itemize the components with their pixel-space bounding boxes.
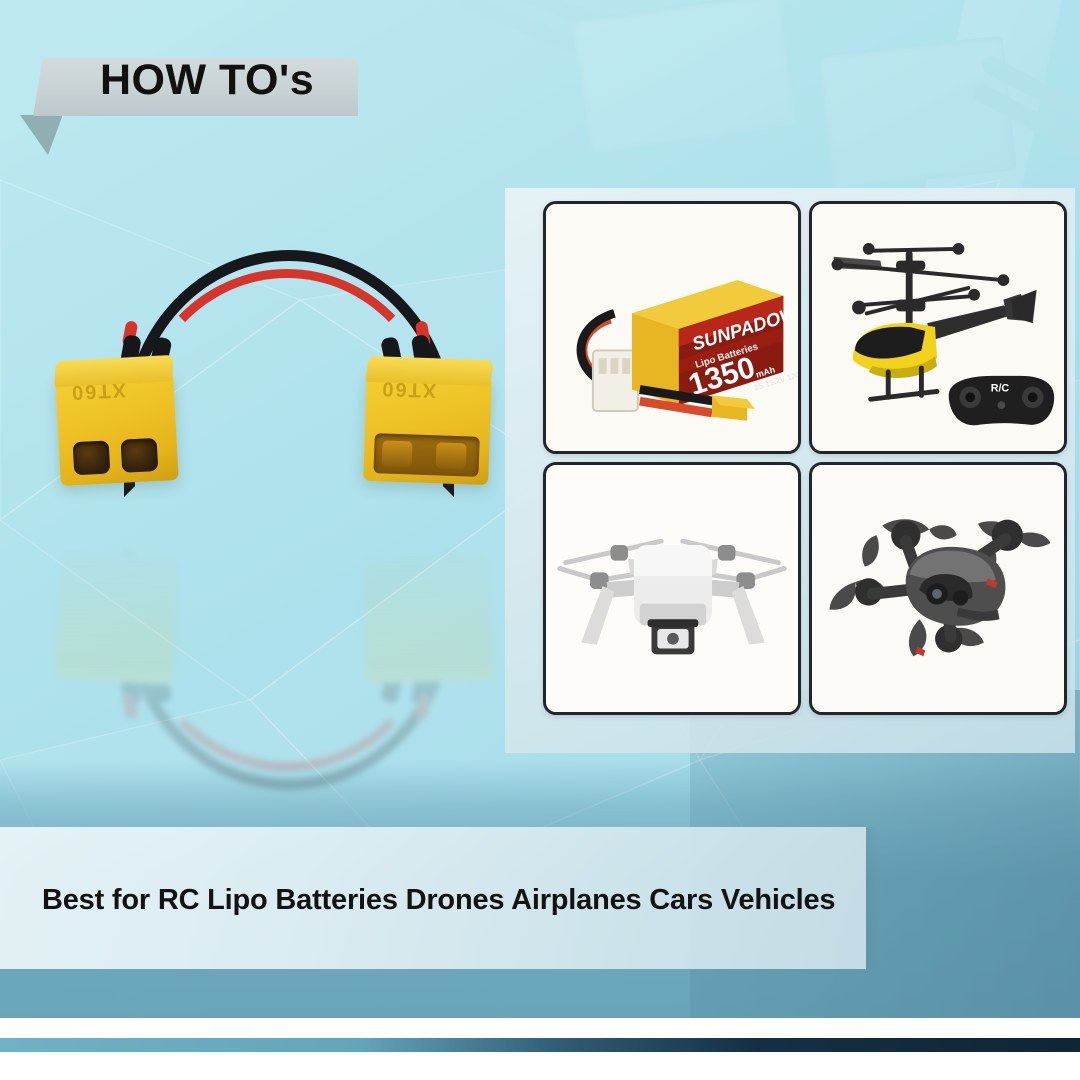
xt60-female-connector: XT60	[55, 372, 178, 486]
xt60-label-left: XT60	[69, 378, 126, 404]
caption-headline: Best for RC Lipo Batteries Drones Airpla…	[42, 884, 835, 917]
product-reflection	[20, 525, 510, 815]
gallery-cell-lipo-battery[interactable]: SUNPADOW Lipo Batteries 1350 mAh 2S 15.2…	[543, 201, 801, 454]
ribbon-fold	[20, 115, 62, 155]
socket-hole-a	[73, 440, 111, 475]
male-cavity	[373, 433, 479, 477]
remote-label: R/C	[991, 382, 1010, 394]
banner-title: HOW TO's	[100, 59, 314, 102]
caption-band-edge-shadow	[866, 827, 880, 969]
hero-product-xt60-cable: XT60 XT60	[20, 225, 510, 545]
footer-accent-stripe	[0, 1038, 1080, 1052]
socket-hole-b	[121, 438, 159, 473]
gallery-cell-rc-helicopter[interactable]: R/C	[809, 201, 1067, 454]
gallery-cell-camera-drone[interactable]	[543, 462, 801, 715]
footer-bottom-white	[0, 1052, 1080, 1080]
poster-canvas: XT60 XT60 HOW TO's	[0, 0, 1080, 1080]
product-gallery-grid: SUNPADOW Lipo Batteries 1350 mAh 2S 15.2…	[543, 201, 1067, 715]
gallery-cell-fpv-drone[interactable]	[809, 462, 1067, 715]
xt60-male-connector: XT60	[363, 373, 492, 485]
watermark-connector-ghost	[430, 0, 1080, 200]
product-gallery-panel: SUNPADOW Lipo Batteries 1350 mAh 2S 15.2…	[505, 188, 1075, 753]
male-pin-a	[382, 440, 413, 467]
male-pin-b	[436, 442, 467, 469]
xt60-label-right: XT60	[380, 376, 437, 401]
footer-white-band	[0, 1018, 1080, 1038]
